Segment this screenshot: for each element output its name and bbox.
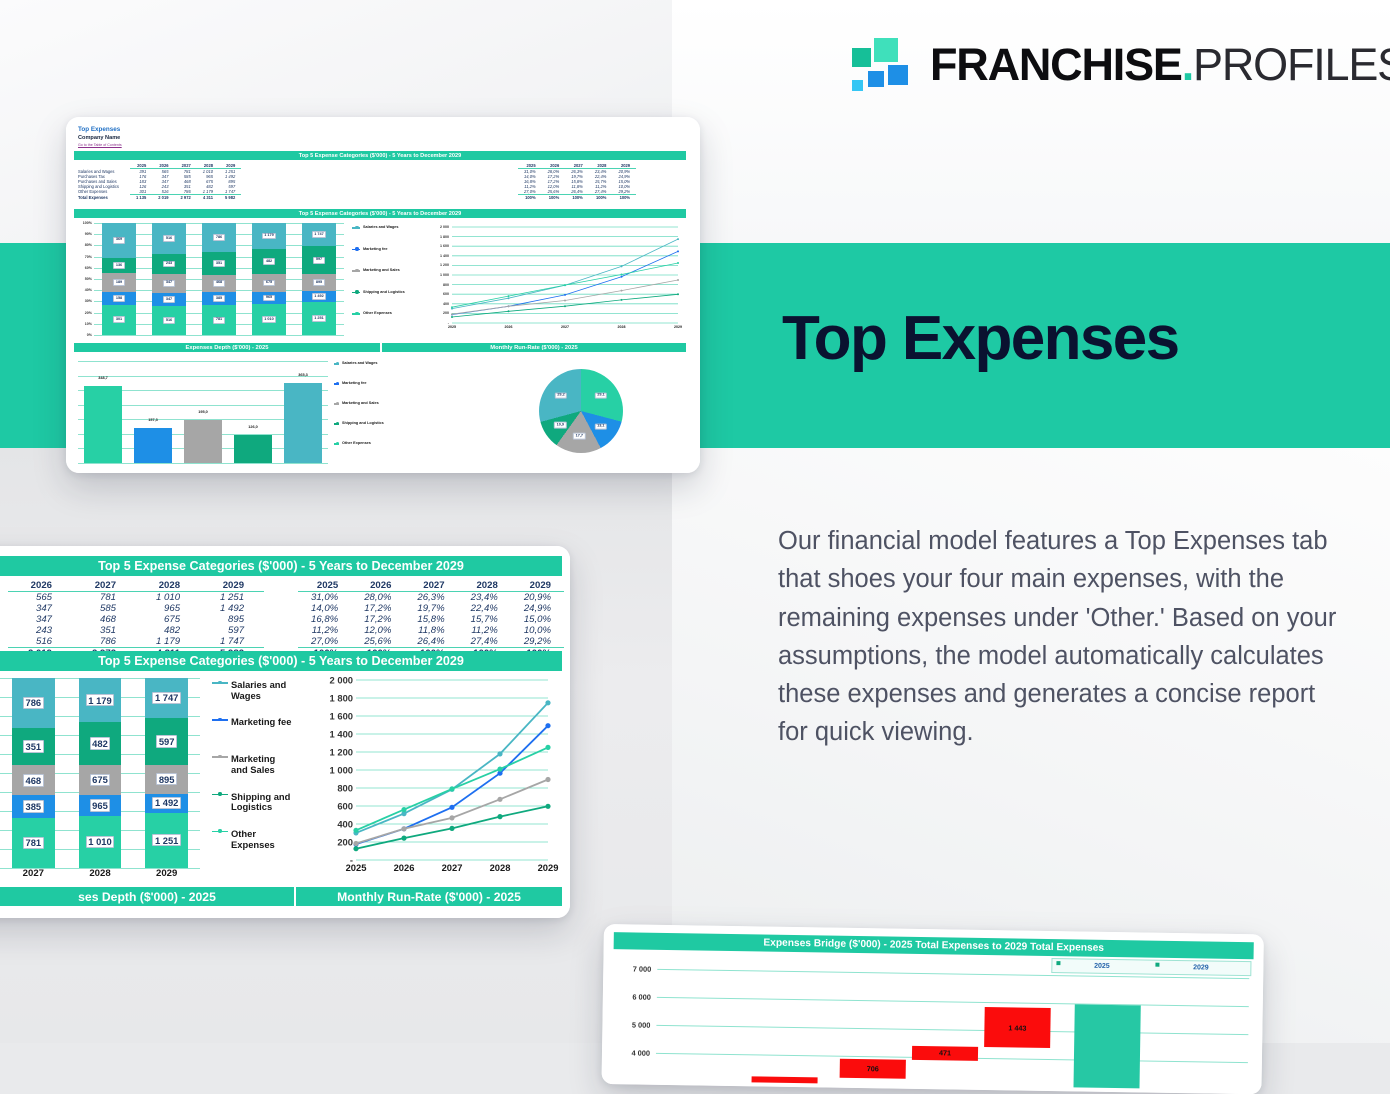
- banner-expense-chart-left: Top 5 Expense Categories ($'000) - 5 Yea…: [0, 651, 562, 671]
- logo-square-2: [852, 48, 871, 67]
- chart-legend-left: Salaries and WagesMarketing feeMarketing…: [212, 680, 292, 866]
- report-title: Top Expenses: [78, 125, 122, 134]
- logo-word-bold: FRANCHISE: [930, 39, 1182, 90]
- logo-word-light: PROFILES: [1193, 39, 1390, 90]
- expenses-bridge-waterfall-chart: 4 0005 0006 0007 0007064711 443: [612, 954, 1254, 1090]
- logo-wordmark: FRANCHISE.PROFILES: [930, 42, 1390, 87]
- expense-mix-pie-chart: 29,113,117,710,929,2: [496, 365, 666, 461]
- stacked-chart-y-axis: 100%90%80%70%60%50%40%30%20%10%0%: [76, 223, 92, 335]
- banner-monthly-runrate-left: Monthly Run-Rate ($'000) - 2025: [296, 887, 562, 906]
- expenses-depth-bar-chart: 348,7157,3195,0126,0365,3: [78, 361, 328, 463]
- chart-legend-depth: Salaries and WagesMarketing feeMarketing…: [334, 361, 396, 461]
- stacked-bar-x-axis: 202720282029: [0, 868, 200, 884]
- expense-table-left: 20252026202720282029Salaries and Wages39…: [78, 163, 241, 200]
- page-title: Top Expenses: [782, 306, 1179, 371]
- stacked-bar-chart: 3691361891583015162433473475167863514683…: [94, 223, 344, 335]
- banner-expenses-depth-left: ses Depth ($'000) - 2025: [0, 887, 294, 906]
- expense-table-percent: 2025202620272028202931,0%28,0%26,3%23,4%…: [298, 580, 564, 659]
- logo-word-dot: .: [1182, 39, 1193, 90]
- logo-square-1: [874, 38, 898, 62]
- chart-legend-top: Salaries and WagesMarketing feeMarketing…: [352, 225, 420, 333]
- table-of-contents-link[interactable]: Go to the Table of Contents: [78, 143, 122, 148]
- banner-monthly-runrate: Monthly Run-Rate ($'000) - 2025: [382, 343, 686, 352]
- logo-squares-icon: [852, 38, 908, 90]
- logo-square-5: [852, 80, 863, 91]
- screenshot-card-left[interactable]: Top 5 Expense Categories ($'000) - 5 Yea…: [0, 546, 570, 918]
- banner-expense-table-left: Top 5 Expense Categories ($'000) - 5 Yea…: [0, 556, 562, 576]
- run-rate-line-chart-left: -2004006008001 0001 2001 4001 6001 8002 …: [304, 676, 554, 884]
- stacked-bar-chart-left: 7863514683857811 1794826759651 0101 7475…: [0, 678, 200, 868]
- banner-expense-chart: Top 5 Expense Categories ($'000) - 5 Yea…: [74, 209, 686, 218]
- logo-square-4: [868, 71, 884, 87]
- page-description: Our financial model features a Top Expen…: [778, 522, 1338, 752]
- expense-table-right: 2025202620272028202931,0%28,0%26,3%23,4%…: [518, 163, 636, 200]
- banner-expenses-depth: Expenses Depth ($'000) - 2025: [74, 343, 380, 352]
- expense-table-values: 20262027202820295657811 0101 25134758596…: [8, 580, 264, 659]
- brand-logo: FRANCHISE.PROFILES: [852, 38, 1390, 90]
- screenshot-card-top[interactable]: Top Expenses Company Name Go to the Tabl…: [66, 117, 700, 473]
- logo-square-3: [888, 65, 908, 85]
- report-header: Top Expenses Company Name Go to the Tabl…: [78, 125, 122, 148]
- background-top-right: [672, 0, 1390, 243]
- screenshot-card-bottom-right[interactable]: Expenses Bridge ($'000) - 2025 Total Exp…: [601, 924, 1263, 1094]
- banner-expense-table: Top 5 Expense Categories ($'000) - 5 Yea…: [74, 151, 686, 160]
- run-rate-line-chart: -2004006008001 0001 2001 4001 6001 8002 …: [426, 223, 684, 335]
- report-subtitle: Company Name: [78, 134, 122, 142]
